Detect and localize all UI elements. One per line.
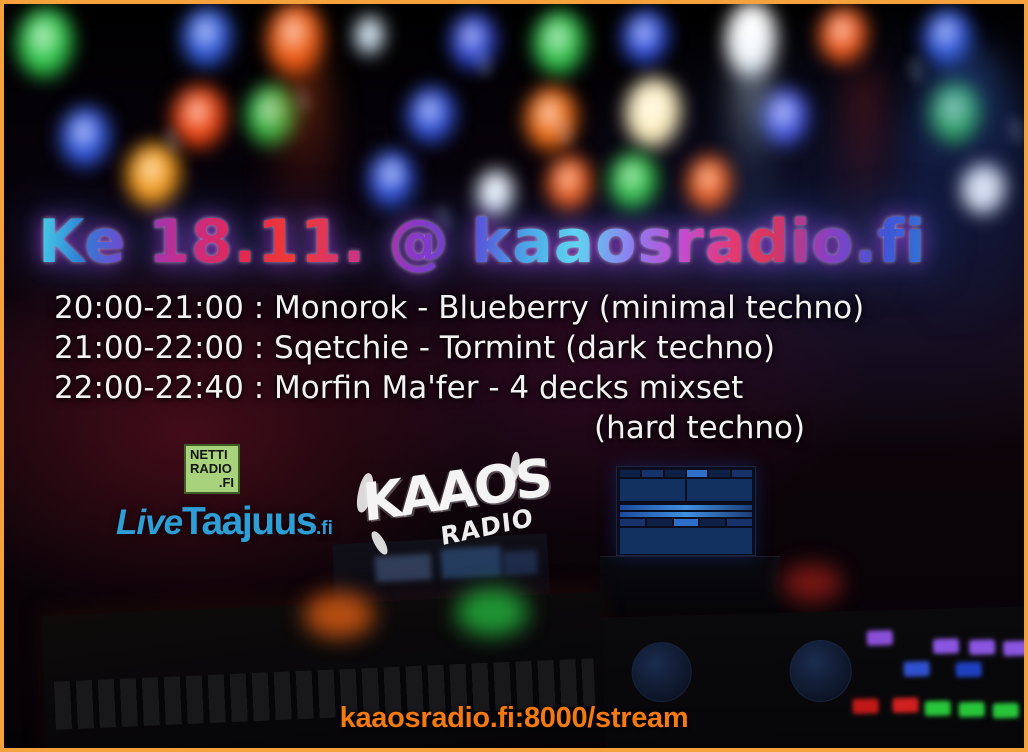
controller-pad [969, 639, 995, 655]
kaaos-splatter [369, 529, 390, 557]
kaaosradio-logo: KAAOS RADIO [360, 451, 553, 567]
schedule-row: 20:00-21:00 : Monorok - Blueberry (minim… [54, 288, 994, 328]
controller-pad [955, 662, 981, 678]
dj-software-waveform [620, 505, 752, 510]
nettiradio-line1: NETTI [190, 448, 234, 462]
dj-software-toolbar [620, 470, 752, 477]
controller-pad [1003, 640, 1024, 656]
ceiling-light [533, 11, 587, 77]
dj-software-waveform [620, 512, 752, 517]
livetaajuus-part-live: Live [116, 503, 182, 542]
stage-background: Ke 18.11. @ kaaosradio.fi Ke 18.11. @ ka… [4, 4, 1024, 748]
controller-pad [903, 661, 929, 677]
livetaajuus-part-fi: .fi [316, 518, 333, 539]
schedule-row: 22:00-22:40 : Morfin Ma'fer - 4 decks mi… [54, 368, 994, 408]
ceiling-light [625, 78, 683, 150]
schedule-row-continuation: (hard techno) [54, 408, 994, 448]
poster-headline: Ke 18.11. @ kaaosradio.fi Ke 18.11. @ ka… [38, 200, 998, 284]
schedule-row: 21:00-22:00 : Sqetchie - Tormint (dark t… [54, 328, 994, 368]
headline-text: Ke 18.11. @ kaaosradio.fi [38, 200, 998, 284]
controller-platter-right [789, 639, 853, 703]
ceiling-light [762, 89, 810, 147]
livetaajuus-part-taajuus: Taajuus [182, 500, 316, 543]
stage-light-red [304, 592, 374, 638]
ceiling-light [819, 7, 869, 65]
nettiradio-line3: .FI [190, 476, 234, 490]
livetaajuus-logo: LiveTaajuus.fi [116, 500, 333, 544]
dj-software-decks [620, 479, 752, 503]
laptop-base [600, 556, 780, 613]
ceiling-light [17, 8, 75, 80]
ceiling-light [407, 87, 457, 145]
stream-url[interactable]: kaaosradio.fi:8000/stream [4, 702, 1024, 735]
controller-pad [867, 630, 893, 646]
controller-platter-left [631, 641, 693, 703]
stage-light-red-secondary [782, 564, 842, 602]
ceiling-light [355, 16, 385, 56]
dj-software-mixer [620, 519, 752, 526]
dj-software-browser [620, 528, 752, 554]
ceiling-light [622, 10, 670, 66]
nettiradio-logo: NETTI RADIO .FI [184, 444, 240, 494]
nettiradio-line2: RADIO [190, 462, 234, 476]
controller-pad [933, 638, 959, 654]
event-poster: Ke 18.11. @ kaaosradio.fi Ke 18.11. @ ka… [0, 0, 1028, 752]
ceiling-light [525, 87, 579, 153]
schedule-list: 20:00-21:00 : Monorok - Blueberry (minim… [54, 288, 994, 448]
stage-light-green [456, 588, 528, 636]
laptop-screen [616, 466, 756, 556]
ceiling-light [182, 7, 234, 69]
ceiling-light [60, 107, 112, 169]
